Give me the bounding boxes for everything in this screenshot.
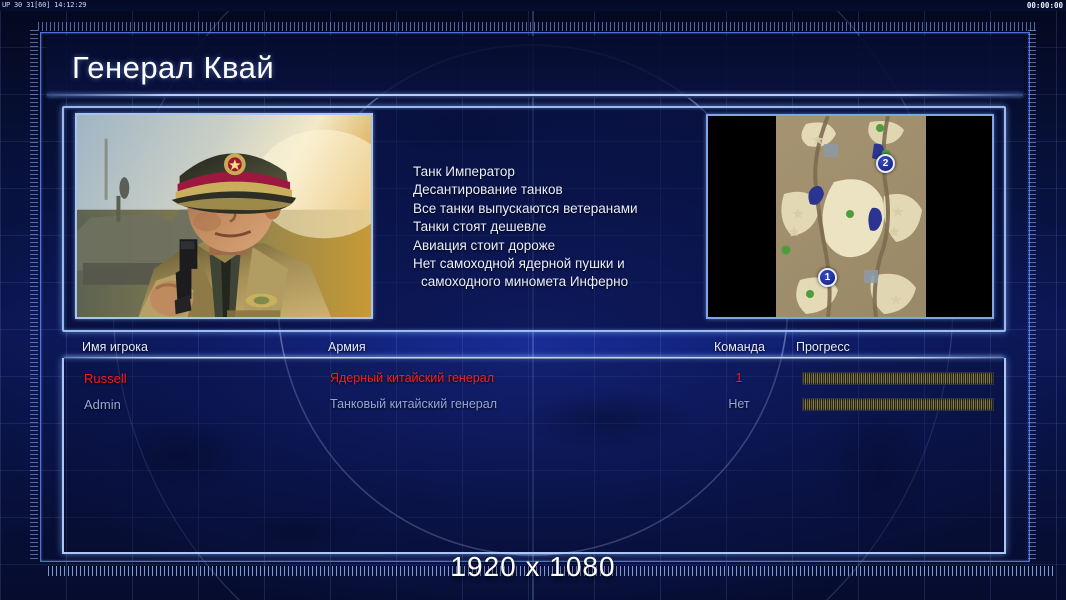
game-screen: Генерал Квай bbox=[0, 0, 1066, 600]
description-line-1: Танк Император bbox=[413, 163, 703, 181]
player-team: Нет bbox=[716, 397, 762, 411]
session-timer: 00:00:00 bbox=[1027, 1, 1063, 10]
description-line-3: Все танки выпускаются ветеранами bbox=[413, 200, 703, 218]
player-list-headers: Имя игрока Армия Команда Прогресс bbox=[62, 340, 1006, 356]
description-line-5: Авиация стоит дороже bbox=[413, 237, 703, 255]
player-name: Russell bbox=[84, 371, 127, 386]
table-row[interactable]: Russell Ядерный китайский генерал 1 bbox=[64, 368, 1008, 392]
ruler-left bbox=[30, 30, 38, 560]
description-line-2: Десантирование танков bbox=[413, 181, 703, 199]
player-team: 1 bbox=[716, 371, 762, 385]
column-header-army: Армия bbox=[328, 340, 366, 354]
map-start-position-1-label: 1 bbox=[825, 272, 831, 283]
map-start-position-1[interactable]: 1 bbox=[818, 268, 837, 287]
column-header-progress: Прогресс bbox=[796, 340, 850, 354]
map-start-position-2-label: 2 bbox=[883, 158, 889, 169]
description-line-4: Танки стоят дешевле bbox=[413, 218, 703, 236]
player-progress-bar bbox=[802, 372, 994, 385]
general-description: Танк Император Десантирование танков Все… bbox=[413, 163, 703, 292]
os-status-strip bbox=[0, 0, 1066, 11]
column-header-player-name: Имя игрока bbox=[82, 340, 148, 354]
column-header-team: Команда bbox=[714, 340, 765, 354]
map-start-position-2[interactable]: 2 bbox=[876, 154, 895, 173]
ruler-top bbox=[38, 22, 1038, 31]
title-divider bbox=[47, 94, 1023, 96]
description-line-7: самоходного миномета Инферно bbox=[413, 273, 703, 291]
portrait-artwork bbox=[77, 115, 371, 318]
player-army: Ядерный китайский генерал bbox=[330, 371, 494, 385]
minimap-preview: 1 2 bbox=[706, 114, 994, 319]
player-list-panel: Russell Ядерный китайский генерал 1 Admi… bbox=[62, 358, 1006, 554]
description-line-6: Нет самоходной ядерной пушки и bbox=[413, 255, 703, 273]
general-portrait bbox=[75, 113, 373, 319]
resolution-caption: 1920 x 1080 bbox=[0, 551, 1066, 583]
minimap-terrain bbox=[776, 116, 926, 317]
player-army: Танковый китайский генерал bbox=[330, 397, 497, 411]
player-name: Admin bbox=[84, 397, 121, 412]
page-title: Генерал Квай bbox=[72, 50, 274, 86]
table-row[interactable]: Admin Танковый китайский генерал Нет bbox=[64, 394, 1008, 418]
player-progress-bar bbox=[802, 398, 994, 411]
os-status-text: UP 30 31[60] 14:12:29 bbox=[2, 1, 86, 9]
